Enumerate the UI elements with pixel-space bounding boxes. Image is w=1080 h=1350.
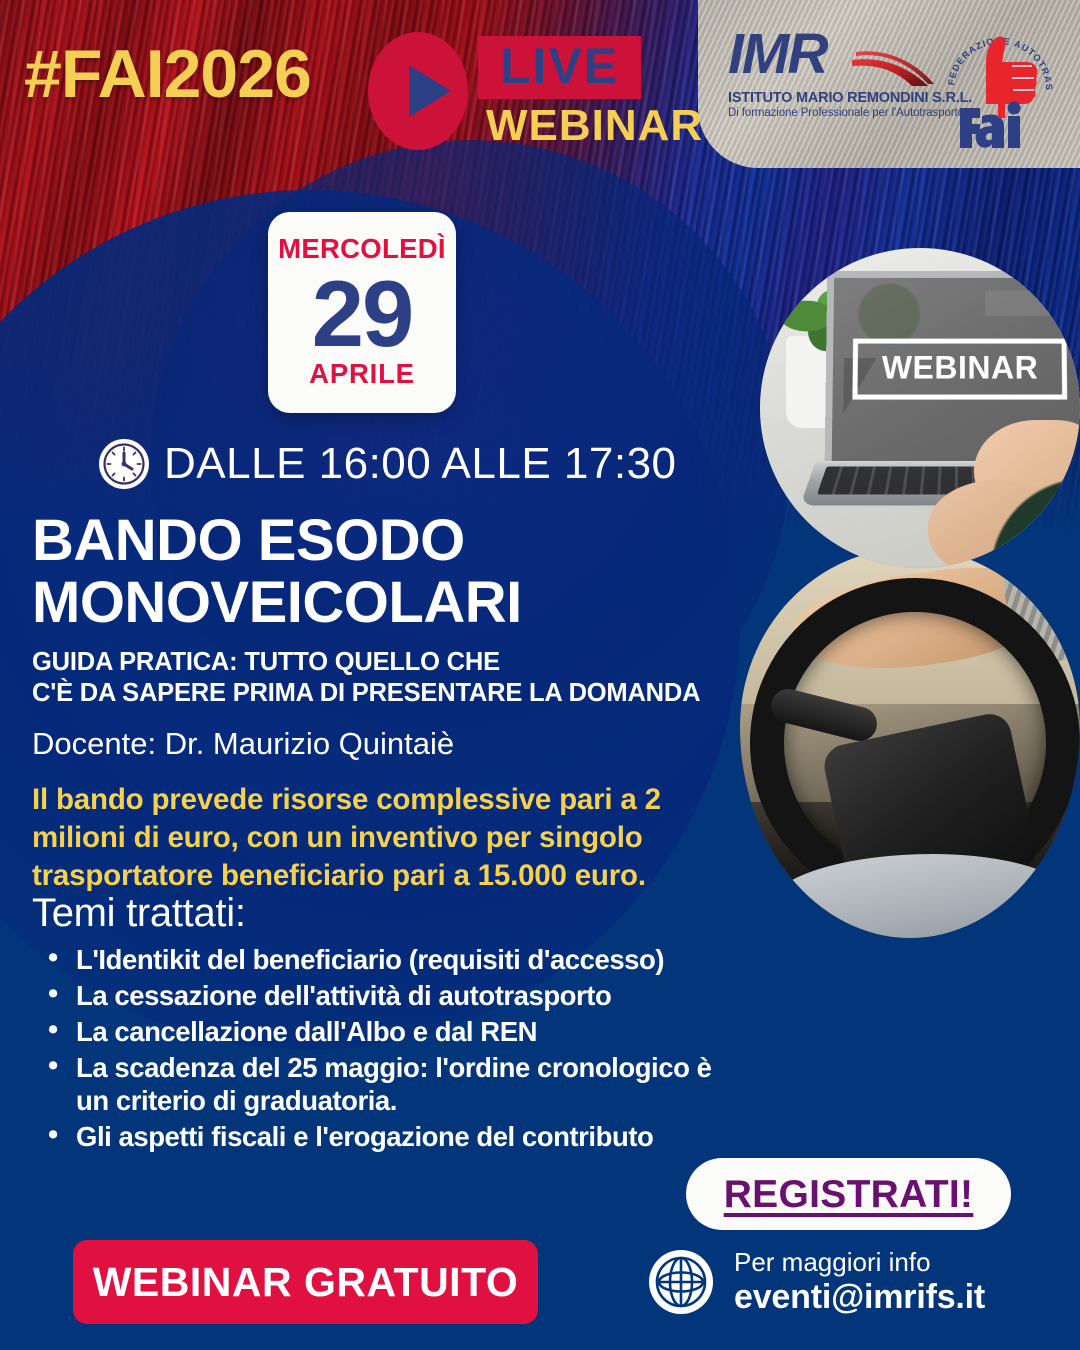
laptop-webinar-photo: WEBINAR bbox=[760, 248, 1080, 568]
list-item: La cancellazione dall'Albo e dal REN bbox=[32, 1015, 732, 1048]
webinar-gratuito-badge: WEBINAR GRATUITO bbox=[73, 1240, 538, 1324]
contact-info: Per maggiori info eventi@imrifs.it bbox=[648, 1248, 985, 1317]
webinar-gratuito-label: WEBINAR GRATUITO bbox=[93, 1262, 519, 1303]
date-month: APRILE bbox=[309, 360, 415, 388]
speaker-name: Docente: Dr. Maurizio Quintaiè bbox=[32, 726, 732, 762]
contact-label: Per maggiori info bbox=[734, 1248, 985, 1278]
topics-heading: Temi trattati: bbox=[32, 893, 732, 933]
time-text: DALLE 16:00 ALLE 17:30 bbox=[164, 442, 677, 486]
list-item: Gli aspetti fiscali e l'erogazione del c… bbox=[32, 1120, 732, 1153]
register-button[interactable]: REGISTRATI! bbox=[686, 1158, 1011, 1230]
webinar-label: WEBINAR bbox=[486, 104, 703, 148]
funding-highlight: Il bando prevede risorse complessive par… bbox=[32, 781, 732, 894]
title-line-1: BANDO ESODO bbox=[32, 510, 732, 572]
live-label: LIVE bbox=[500, 38, 619, 94]
list-item: L'Identikit del beneficiario (requisiti … bbox=[32, 943, 732, 976]
screen-webinar-label: WEBINAR bbox=[852, 338, 1067, 399]
poster-header: #FAI2026 LIVE WEBINAR bbox=[0, 0, 1080, 175]
title-line-2: MONOVEICOLARI bbox=[32, 572, 732, 634]
play-triangle-icon bbox=[409, 65, 451, 117]
clock-icon bbox=[98, 438, 150, 490]
date-card: MERCOLEDÌ 29 APRILE bbox=[268, 212, 456, 413]
contact-email[interactable]: eventi@imrifs.it bbox=[734, 1278, 985, 1317]
hashtag-title: #FAI2026 bbox=[24, 40, 311, 108]
list-item: La cessazione dell'attività di autotrasp… bbox=[32, 979, 732, 1012]
main-content-block: BANDO ESODO MONOVEICOLARI GUIDA PRATICA:… bbox=[32, 510, 732, 895]
contact-text-block: Per maggiori info eventi@imrifs.it bbox=[734, 1248, 985, 1317]
webinar-poster: WEBINAR #FAI2026 LIVE WEBINAR bbox=[0, 0, 1080, 1350]
photo-corner-shadow bbox=[966, 474, 1080, 568]
globe-icon bbox=[648, 1249, 714, 1315]
list-item: La scadenza del 25 maggio: l'ordine cron… bbox=[32, 1051, 732, 1117]
time-row: DALLE 16:00 ALLE 17:30 bbox=[98, 438, 677, 490]
play-button-badge bbox=[368, 32, 468, 150]
truck-driver-photo bbox=[740, 548, 1080, 938]
register-button-label: REGISTRATI! bbox=[724, 1175, 974, 1214]
topics-list: L'Identikit del beneficiario (requisiti … bbox=[32, 943, 732, 1153]
screen-webinar-text: WEBINAR bbox=[882, 349, 1039, 385]
subtitle-line-2: C'È DA SAPERE PRIMA DI PRESENTARE LA DOM… bbox=[32, 678, 732, 709]
live-badge: LIVE bbox=[478, 36, 641, 99]
subtitle-line-1: GUIDA PRATICA: TUTTO QUELLO CHE bbox=[32, 647, 732, 678]
date-day-of-week: MERCOLEDÌ bbox=[278, 235, 446, 263]
date-day-number: 29 bbox=[312, 269, 413, 358]
topics-section: Temi trattati: L'Identikit del beneficia… bbox=[32, 893, 732, 1156]
